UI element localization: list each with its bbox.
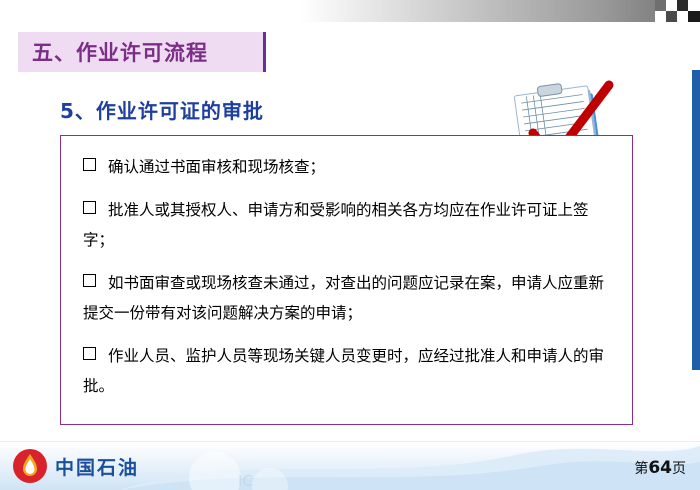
checker-svg (655, 0, 700, 22)
logo-text: 中国石油 (55, 453, 139, 480)
list-item-text: 确认通过书面审核和现场核查； (108, 158, 325, 176)
list-item: 确认通过书面审核和现场核查； (83, 152, 610, 182)
right-accent-bar (692, 70, 700, 370)
square-bullet-icon (83, 201, 96, 214)
page-number-value: 64 (648, 458, 672, 478)
top-gradient-band (300, 0, 700, 22)
svg-text:IC: IC (238, 472, 253, 490)
checker-pattern-decoration (655, 0, 700, 22)
footer-decoration: IC (120, 442, 700, 490)
footer: IC 中国石油 第64页 (0, 441, 700, 490)
section-title-label: 五、作业许可流程 (18, 37, 208, 67)
slide: 五、作业许可流程 5、作业许可证的审批 (0, 0, 700, 490)
square-bullet-icon (83, 274, 96, 287)
square-bullet-icon (83, 347, 96, 360)
footer-swoosh-svg: IC (120, 442, 700, 490)
section-title: 五、作业许可流程 (18, 32, 266, 72)
page-prefix: 第 (634, 461, 648, 477)
list-item-text: 如书面审查或现场核查未通过，对查出的问题应记录在案，申请人应重新提交一份带有对该… (83, 274, 604, 322)
list-item-text: 批准人或其授权人、申请方和受影响的相关各方均应在作业许可证上签字； (83, 201, 589, 249)
page-number: 第64页 (634, 458, 686, 478)
page-suffix: 页 (672, 461, 686, 477)
list-item: 如书面审查或现场核查未通过，对查出的问题应记录在案，申请人应重新提交一份带有对该… (83, 268, 610, 328)
content-box: 确认通过书面审核和现场核查； 批准人或其授权人、申请方和受影响的相关各方均应在作… (60, 135, 633, 425)
cnpc-logo-icon (12, 448, 48, 484)
list-item-text: 作业人员、监护人员等现场关键人员变更时，应经过批准人和申请人的审批。 (83, 347, 604, 395)
list-item: 作业人员、监护人员等现场关键人员变更时，应经过批准人和申请人的审批。 (83, 341, 610, 401)
square-bullet-icon (83, 158, 96, 171)
list-item: 批准人或其授权人、申请方和受影响的相关各方均应在作业许可证上签字； (83, 195, 610, 255)
logo: 中国石油 (12, 448, 139, 484)
sub-heading: 5、作业许可证的审批 (60, 95, 264, 124)
